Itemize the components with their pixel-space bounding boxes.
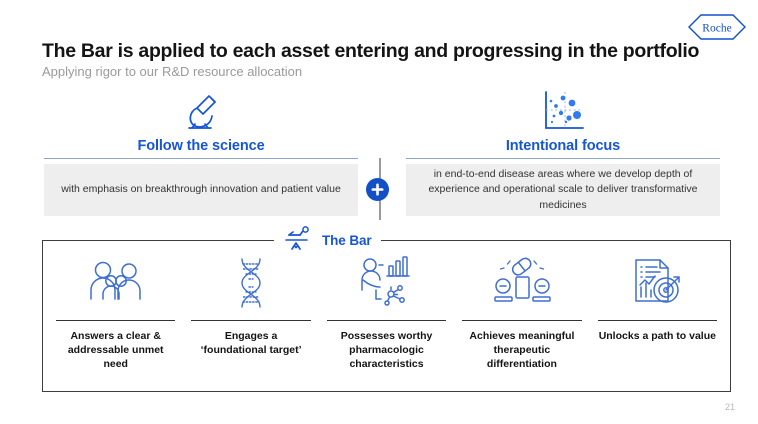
footer-spacer: [0, 418, 758, 424]
pillar-title: Intentional focus: [406, 138, 720, 154]
pills-capsule-icon: [490, 252, 554, 314]
page-number: 21: [725, 402, 735, 412]
the-bar-label: The Bar: [322, 233, 372, 248]
criterion-divider: [462, 320, 581, 321]
criterion-pharmacologic: Possesses worthy pharmacologic character…: [319, 252, 454, 392]
pillar-body-box: in end-to-end disease areas where we dev…: [406, 164, 720, 216]
the-bar-header: The Bar: [274, 226, 381, 254]
dna-helix-icon: [228, 252, 274, 314]
patient-chart-molecule-icon: [356, 252, 418, 314]
pillar-divider: [44, 158, 358, 159]
pillar-body-text: in end-to-end disease areas where we dev…: [418, 167, 708, 213]
pillar-divider: [406, 158, 720, 159]
criterion-therapeutic-differentiation: Achieves meaningful therapeutic differen…: [454, 252, 589, 392]
pillar-title: Follow the science: [44, 138, 358, 154]
criterion-unmet-need: Answers a clear & addressable unmet need: [48, 252, 183, 392]
page-subtitle: Applying rigor to our R&D resource alloc…: [42, 64, 732, 80]
criterion-divider: [56, 320, 175, 321]
slide-root: Roche The Bar is applied to each asset e…: [0, 0, 758, 424]
scatter-plot-icon: [406, 86, 720, 134]
family-people-icon: [87, 252, 145, 314]
roche-logo-text: Roche: [702, 23, 731, 35]
pillar-body-text: with emphasis on breakthrough innovation…: [61, 182, 341, 197]
high-jumper-icon: [283, 225, 313, 256]
pillar-body-box: with emphasis on breakthrough innovation…: [44, 164, 358, 216]
plus-icon: [366, 178, 389, 201]
pillar-connector: [375, 158, 385, 220]
microscope-icon: [44, 86, 358, 134]
pillar-intentional-focus: Intentional focus in end-to-end disease …: [406, 86, 720, 216]
roche-logo: Roche: [688, 14, 746, 40]
document-target-icon: [628, 252, 686, 314]
criterion-label: Engages a ‘foundational target’: [191, 329, 310, 357]
criterion-label: Unlocks a path to value: [599, 329, 716, 343]
criterion-label: Possesses worthy pharmacologic character…: [327, 329, 446, 372]
criterion-divider: [598, 320, 717, 321]
criterion-path-to-value: Unlocks a path to value: [590, 252, 725, 392]
criteria-row: Answers a clear & addressable unmet need…: [42, 252, 731, 392]
criterion-divider: [191, 320, 310, 321]
criterion-label: Achieves meaningful therapeutic differen…: [462, 329, 581, 372]
page-title: The Bar is applied to each asset enterin…: [42, 40, 732, 62]
criterion-label: Answers a clear & addressable unmet need: [56, 329, 175, 372]
criterion-divider: [327, 320, 446, 321]
pillar-follow-the-science: Follow the science with emphasis on brea…: [44, 86, 358, 216]
criterion-foundational-target: Engages a ‘foundational target’: [183, 252, 318, 392]
